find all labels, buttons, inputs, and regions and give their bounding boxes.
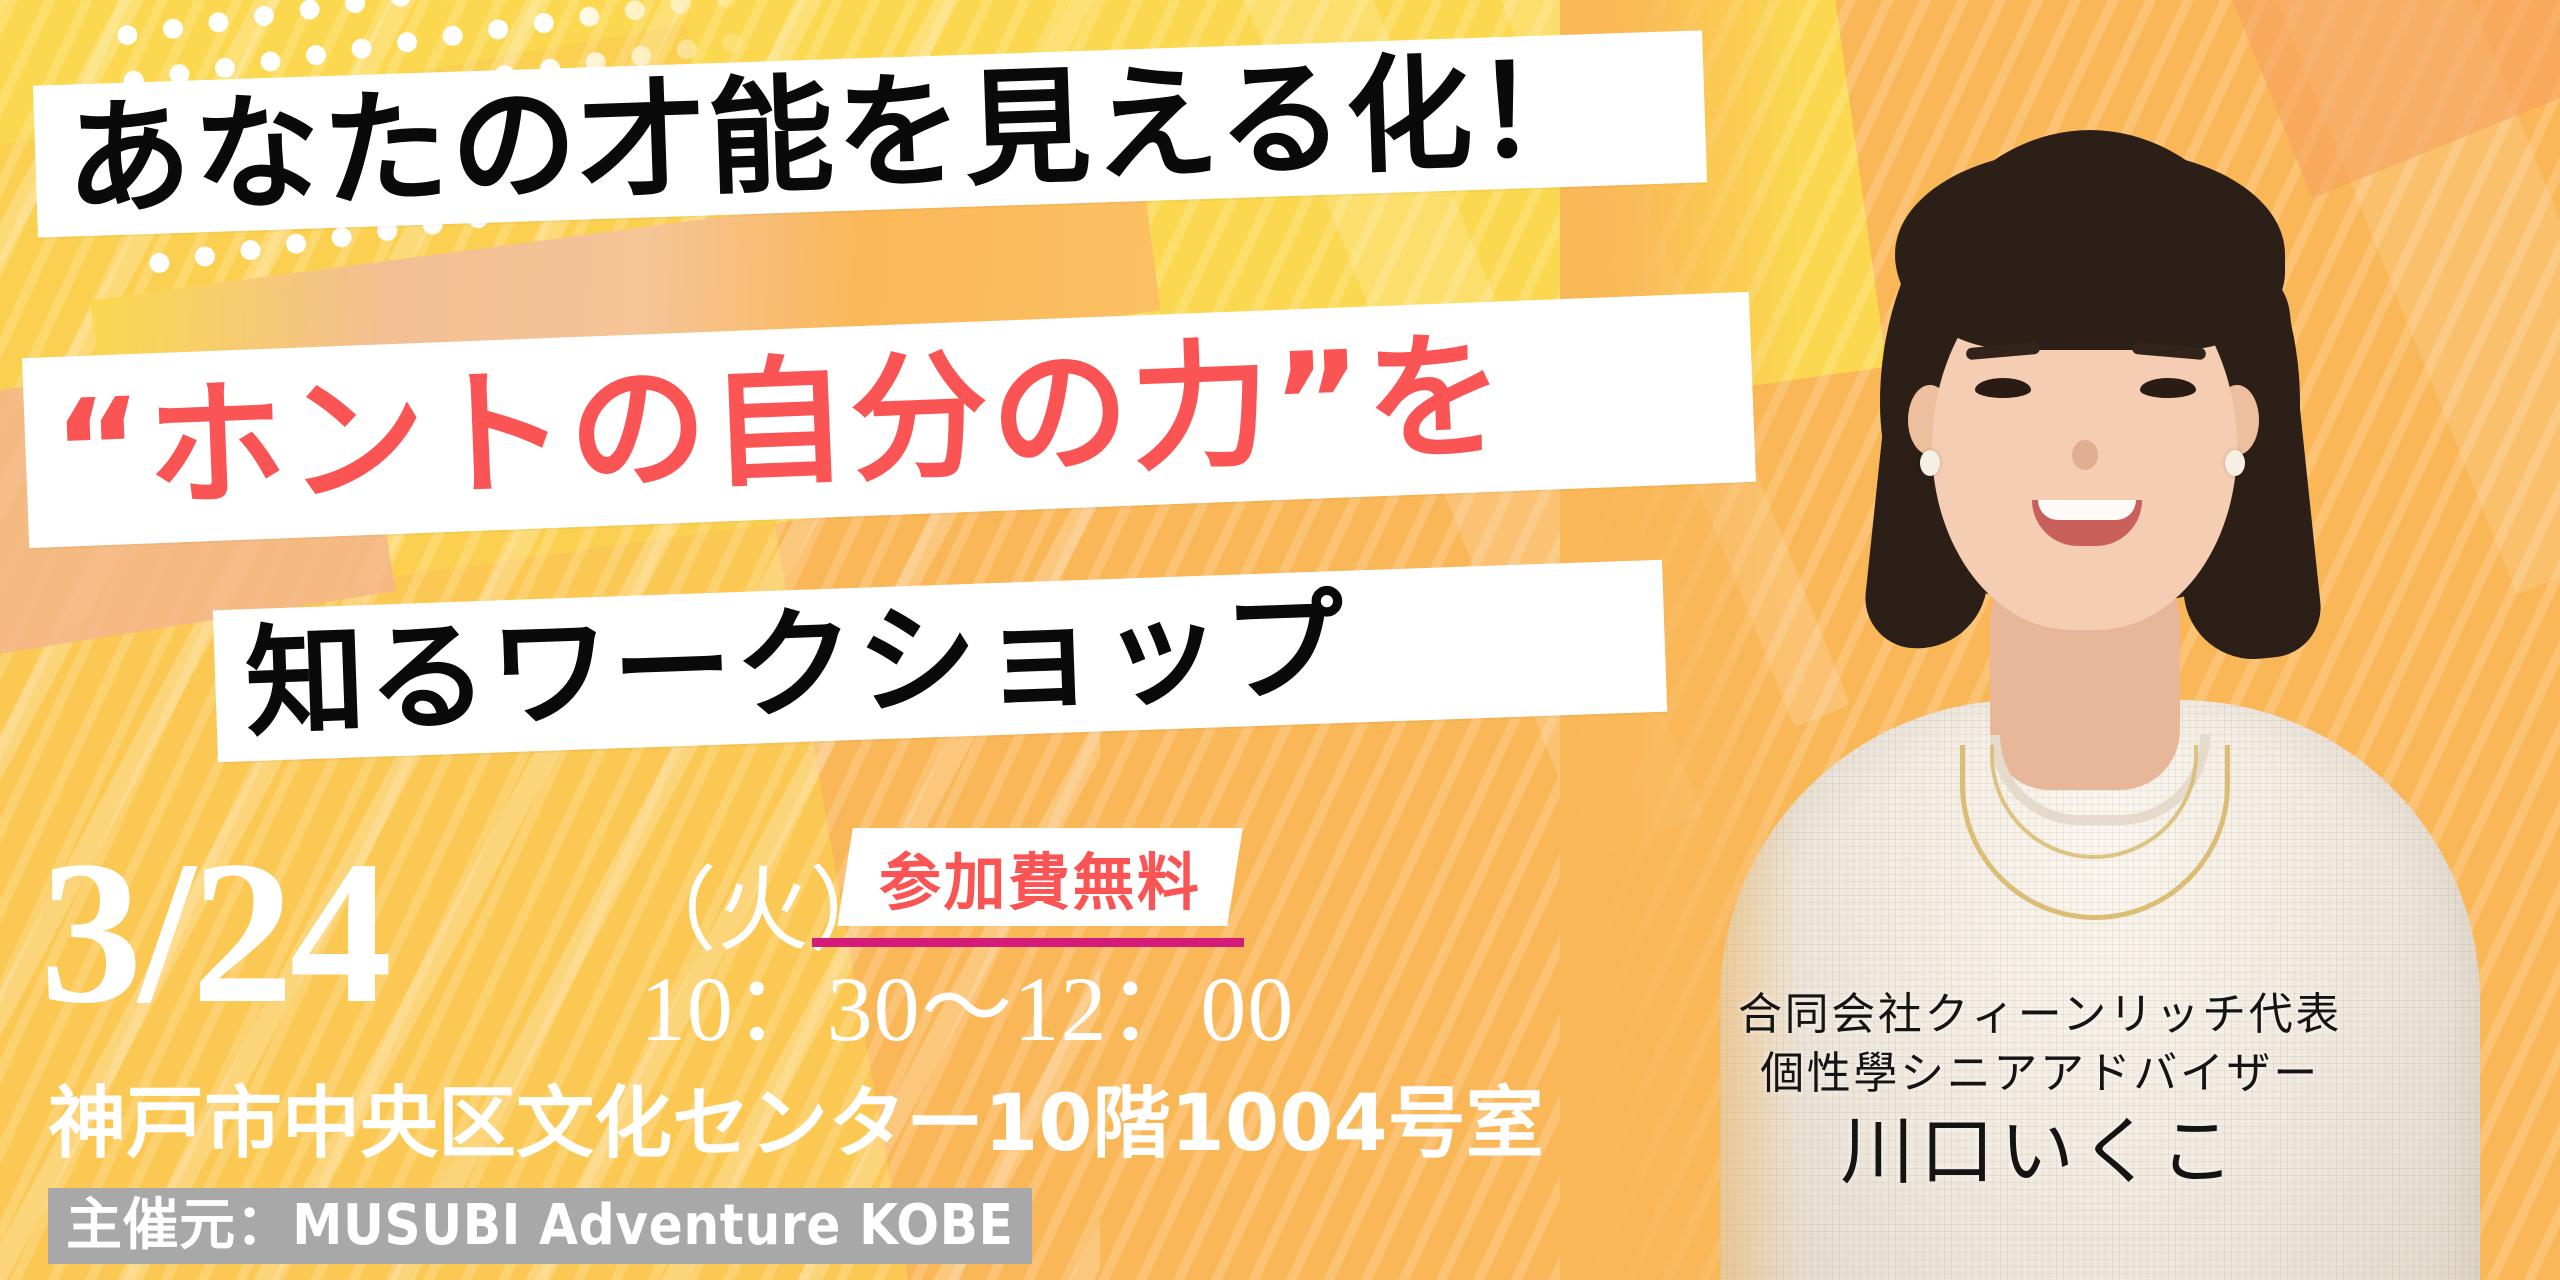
photo-teeth xyxy=(2038,500,2136,520)
event-time: 10：30〜12：00 xyxy=(640,963,1294,1055)
speaker-name: 川口いくこ xyxy=(1640,1112,2440,1193)
speaker-credential-2: 個性學シニアアドバイザー xyxy=(1640,1044,2440,1103)
free-admission-label: 参加費無料 xyxy=(879,832,1201,922)
speaker-credit: 合同会社クィーンリッチ代表 個性學シニアアドバイザー 川口いくこ xyxy=(1640,985,2440,1193)
free-admission-underline xyxy=(812,938,1244,947)
free-admission-badge: 参加費無料 xyxy=(837,828,1243,926)
photo-earring-left xyxy=(1920,450,1940,476)
event-poster: あなたの才能を見える化！ “ホントの自分の力”を 知るワークショップ 3/24 … xyxy=(0,0,2560,1280)
photo-earring-right xyxy=(2225,450,2245,476)
photo-eye-left xyxy=(1975,378,2031,398)
event-venue: 神戸市中央区文化センター10階1004号室 xyxy=(48,1085,1544,1163)
speaker-credential-1: 合同会社クィーンリッチ代表 xyxy=(1640,985,2440,1044)
photo-nose xyxy=(2072,440,2098,470)
organizer-label: 主催元：MUSUBI Adventure KOBE xyxy=(66,1198,1014,1254)
photo-bangs xyxy=(1895,150,2285,350)
event-date: 3/24 xyxy=(40,830,388,1035)
organizer-box: 主催元：MUSUBI Adventure KOBE xyxy=(48,1188,1032,1264)
headline-line-3: 知るワークショップ xyxy=(243,587,1348,745)
headline-line-2: “ホントの自分の力”を xyxy=(51,327,1509,521)
photo-eye-right xyxy=(2140,378,2196,398)
